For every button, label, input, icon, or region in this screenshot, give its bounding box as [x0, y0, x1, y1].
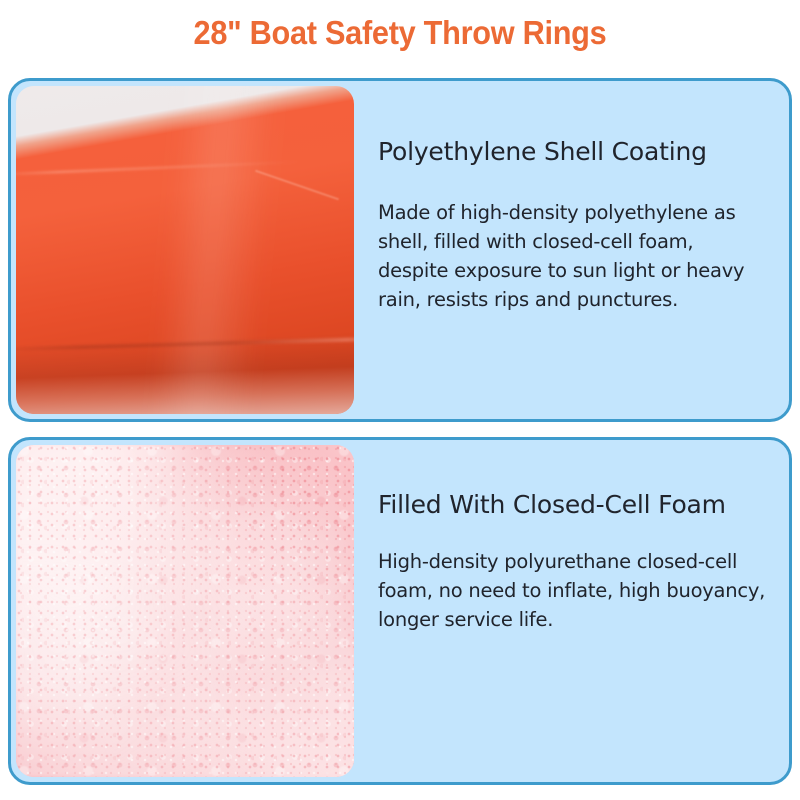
infographic-page: 28" Boat Safety Throw Rings Polyethylene… — [0, 0, 800, 800]
feature-card-closed-cell-foam: Filled With Closed-Cell Foam High-densit… — [8, 437, 792, 785]
feature-description: Made of high-density polyethylene as she… — [378, 198, 767, 314]
feature-card-polyethylene-shell: Polyethylene Shell Coating Made of high-… — [8, 78, 792, 422]
page-title: 28" Boat Safety Throw Rings — [28, 14, 772, 52]
product-image-closed-cell-foam — [16, 445, 354, 777]
feature-text-block: Filled With Closed-Cell Foam High-densit… — [354, 440, 789, 782]
feature-heading: Polyethylene Shell Coating — [378, 137, 767, 166]
feature-description: High-density polyurethane closed-cell fo… — [378, 547, 767, 634]
feature-heading: Filled With Closed-Cell Foam — [378, 490, 767, 519]
feature-text-block: Polyethylene Shell Coating Made of high-… — [354, 81, 789, 419]
product-image-polyethylene-shell — [16, 86, 354, 414]
foam-highlight-haze — [16, 445, 354, 777]
